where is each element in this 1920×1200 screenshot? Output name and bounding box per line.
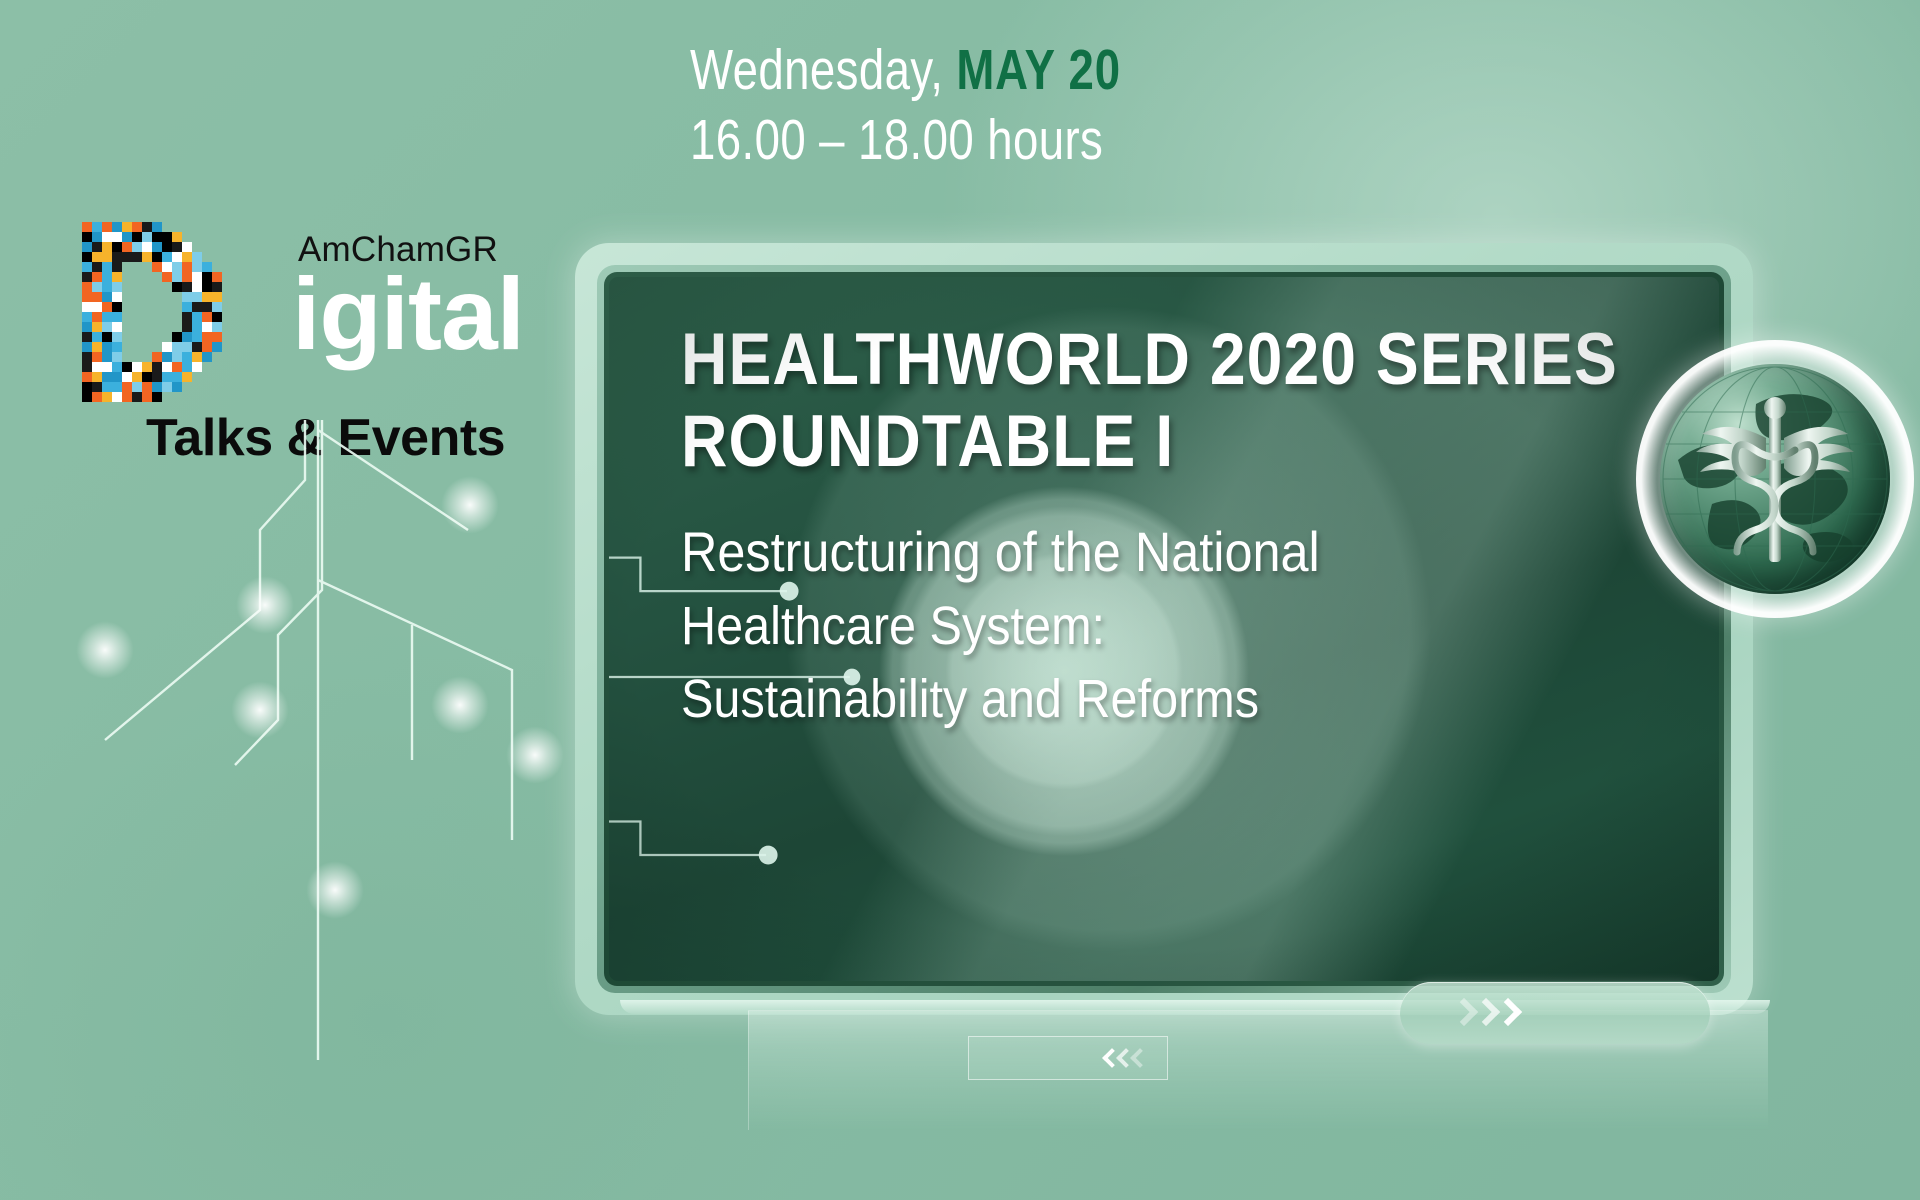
logo-tagline: Talks & Events bbox=[146, 408, 505, 468]
mosaic-pixel bbox=[82, 332, 92, 342]
mosaic-pixel bbox=[112, 392, 122, 402]
mosaic-pixel bbox=[82, 292, 92, 302]
mosaic-pixel bbox=[182, 342, 192, 352]
mosaic-pixel bbox=[152, 222, 162, 232]
circuit-node-glow bbox=[431, 676, 489, 734]
mosaic-pixel bbox=[192, 362, 202, 372]
screen-subtitle-line2: Healthcare System: bbox=[681, 593, 1579, 661]
mosaic-pixel bbox=[182, 352, 192, 362]
next-button[interactable] bbox=[1400, 982, 1710, 1044]
mosaic-pixel bbox=[202, 352, 212, 362]
mosaic-pixel bbox=[102, 352, 112, 362]
mosaic-pixel bbox=[152, 362, 162, 372]
mosaic-pixel bbox=[112, 262, 122, 272]
mosaic-pixel bbox=[202, 332, 212, 342]
mosaic-pixel bbox=[172, 352, 182, 362]
mosaic-pixel bbox=[92, 232, 102, 242]
mosaic-pixel bbox=[122, 392, 132, 402]
mosaic-pixel bbox=[122, 372, 132, 382]
mosaic-pixel bbox=[152, 352, 162, 362]
mosaic-pixel bbox=[162, 362, 172, 372]
mosaic-pixel bbox=[122, 252, 132, 262]
mosaic-pixel bbox=[102, 272, 112, 282]
mosaic-pixel bbox=[92, 362, 102, 372]
mosaic-pixel bbox=[152, 242, 162, 252]
mosaic-pixel bbox=[192, 342, 202, 352]
mosaic-pixel bbox=[162, 262, 172, 272]
mosaic-pixel bbox=[82, 282, 92, 292]
mosaic-pixel bbox=[172, 372, 182, 382]
mosaic-pixel bbox=[192, 312, 202, 322]
mosaic-pixel bbox=[92, 332, 102, 342]
mosaic-pixel bbox=[182, 302, 192, 312]
mosaic-pixel bbox=[212, 292, 222, 302]
mosaic-pixel bbox=[192, 252, 202, 262]
mosaic-pixel bbox=[192, 322, 202, 332]
mosaic-pixel bbox=[82, 262, 92, 272]
mosaic-pixel bbox=[172, 262, 182, 272]
mosaic-pixel bbox=[92, 392, 102, 402]
mosaic-pixel bbox=[192, 262, 202, 272]
mosaic-pixel bbox=[172, 362, 182, 372]
mosaic-pixel bbox=[132, 222, 142, 232]
logo-wordmark: igital bbox=[292, 266, 524, 363]
mosaic-pixel bbox=[122, 242, 132, 252]
mosaic-pixel bbox=[112, 382, 122, 392]
mosaic-pixel bbox=[182, 252, 192, 262]
mosaic-pixel bbox=[102, 232, 112, 242]
mosaic-pixel bbox=[102, 382, 112, 392]
circuit-node-glow bbox=[76, 621, 134, 679]
screen-subtitle-line3: Sustainability and Reforms bbox=[681, 666, 1579, 734]
mosaic-pixel bbox=[182, 322, 192, 332]
chevron-left-icon bbox=[1117, 1047, 1129, 1069]
mosaic-pixel bbox=[162, 352, 172, 362]
mosaic-pixel bbox=[212, 282, 222, 292]
mosaic-pixel bbox=[152, 392, 162, 402]
mosaic-pixel bbox=[82, 252, 92, 262]
mosaic-pixel bbox=[172, 232, 182, 242]
event-time-range: 16.00 – 18.00 hours bbox=[690, 110, 1121, 172]
mosaic-pixel bbox=[112, 282, 122, 292]
mosaic-pixel bbox=[212, 322, 222, 332]
mosaic-pixel bbox=[132, 362, 142, 372]
mosaic-pixel bbox=[202, 262, 212, 272]
mosaic-pixel bbox=[212, 312, 222, 322]
mosaic-pixel bbox=[162, 382, 172, 392]
mosaic-pixel bbox=[82, 312, 92, 322]
mosaic-pixel bbox=[202, 342, 212, 352]
mosaic-pixel bbox=[182, 272, 192, 282]
mosaic-pixel bbox=[112, 302, 122, 312]
mosaic-pixel bbox=[112, 332, 122, 342]
mosaic-pixel bbox=[212, 332, 222, 342]
mosaic-pixel bbox=[92, 312, 102, 322]
mosaic-pixel bbox=[82, 242, 92, 252]
mosaic-pixel bbox=[182, 312, 192, 322]
mosaic-pixel bbox=[182, 332, 192, 342]
mosaic-pixel bbox=[122, 222, 132, 232]
mosaic-pixel bbox=[202, 292, 212, 302]
mosaic-pixel bbox=[82, 222, 92, 232]
mosaic-pixel bbox=[152, 252, 162, 262]
mosaic-pixel bbox=[82, 392, 92, 402]
poster-canvas: Wednesday, MAY 20 16.00 – 18.00 hours Am… bbox=[0, 0, 1920, 1200]
mosaic-pixel bbox=[142, 362, 152, 372]
mosaic-pixel bbox=[112, 312, 122, 322]
mosaic-pixel bbox=[102, 332, 112, 342]
mosaic-pixel bbox=[192, 332, 202, 342]
mosaic-pixel bbox=[152, 382, 162, 392]
mosaic-pixel bbox=[112, 372, 122, 382]
mosaic-pixel bbox=[172, 282, 182, 292]
mosaic-pixel bbox=[102, 392, 112, 402]
circuit-node-glow bbox=[506, 726, 564, 784]
monitor-frame: HEALTHWORLD 2020 SERIES ROUNDTABLE I Res… bbox=[575, 243, 1753, 1015]
mosaic-pixel bbox=[142, 242, 152, 252]
mosaic-pixel bbox=[112, 342, 122, 352]
mosaic-pixel bbox=[192, 272, 202, 282]
mosaic-pixel bbox=[92, 242, 102, 252]
mosaic-pixel bbox=[102, 302, 112, 312]
globe-sphere bbox=[1660, 364, 1890, 594]
chevron-right-icon bbox=[1474, 998, 1491, 1028]
mosaic-pixel bbox=[132, 242, 142, 252]
mosaic-pixel bbox=[82, 352, 92, 362]
event-date-block: Wednesday, MAY 20 16.00 – 18.00 hours bbox=[690, 40, 1229, 171]
mosaic-pixel bbox=[92, 352, 102, 362]
mosaic-pixel bbox=[192, 282, 202, 292]
mosaic-pixel bbox=[92, 262, 102, 272]
chevron-right-icon bbox=[1452, 998, 1469, 1028]
mosaic-pixel bbox=[182, 242, 192, 252]
mosaic-pixel bbox=[182, 372, 192, 382]
chevron-right-icon bbox=[1496, 998, 1513, 1028]
mosaic-pixel bbox=[132, 382, 142, 392]
mosaic-pixel bbox=[112, 232, 122, 242]
mosaic-pixel bbox=[182, 292, 192, 302]
mosaic-pixel bbox=[152, 372, 162, 382]
mosaic-pixel bbox=[112, 252, 122, 262]
mosaic-pixel bbox=[172, 382, 182, 392]
mosaic-pixel bbox=[212, 272, 222, 282]
mosaic-pixel bbox=[102, 372, 112, 382]
mosaic-pixel bbox=[132, 232, 142, 242]
mosaic-pixel bbox=[162, 242, 172, 252]
mosaic-pixel bbox=[102, 342, 112, 352]
mosaic-pixel bbox=[92, 322, 102, 332]
mosaic-pixel bbox=[122, 232, 132, 242]
monitor-bezel-inner: HEALTHWORLD 2020 SERIES ROUNDTABLE I Res… bbox=[604, 272, 1724, 986]
mosaic-pixel bbox=[112, 292, 122, 302]
mosaic-pixel bbox=[82, 232, 92, 242]
mosaic-pixel bbox=[102, 282, 112, 292]
mosaic-pixel bbox=[112, 362, 122, 372]
mosaic-pixel bbox=[82, 372, 92, 382]
mosaic-pixel bbox=[132, 392, 142, 402]
mosaic-pixel bbox=[132, 372, 142, 382]
circuit-tree-decoration bbox=[60, 420, 620, 1060]
mosaic-pixel bbox=[142, 392, 152, 402]
mosaic-pixel bbox=[142, 382, 152, 392]
screen-subtitle-line1: Restructuring of the National bbox=[681, 517, 1579, 587]
event-weekday: Wednesday, bbox=[690, 38, 943, 102]
mosaic-pixel bbox=[162, 342, 172, 352]
mosaic-pixel bbox=[162, 272, 172, 282]
chevron-left-icon bbox=[1103, 1047, 1115, 1069]
mosaic-pixel bbox=[162, 252, 172, 262]
mosaic-pixel bbox=[172, 332, 182, 342]
mosaic-pixel bbox=[92, 252, 102, 262]
mosaic-pixel bbox=[202, 282, 212, 292]
mosaic-pixel bbox=[152, 232, 162, 242]
caduceus-globe-icon bbox=[1636, 340, 1914, 618]
mosaic-pixel bbox=[112, 272, 122, 282]
mosaic-pixel bbox=[92, 342, 102, 352]
mosaic-pixel bbox=[92, 372, 102, 382]
mosaic-pixel bbox=[102, 362, 112, 372]
mosaic-pixel bbox=[192, 292, 202, 302]
monitor-screen: HEALTHWORLD 2020 SERIES ROUNDTABLE I Res… bbox=[609, 277, 1719, 981]
chevron-left-icon bbox=[1131, 1047, 1143, 1069]
previous-button[interactable] bbox=[968, 1036, 1168, 1080]
monitor-bezel-outer: HEALTHWORLD 2020 SERIES ROUNDTABLE I Res… bbox=[597, 265, 1731, 993]
circuit-node-glow bbox=[236, 576, 294, 634]
amcham-digital-logo: AmChamGR igital Talks & Events bbox=[70, 222, 540, 492]
circuit-node-glow bbox=[231, 681, 289, 739]
mosaic-pixel bbox=[112, 322, 122, 332]
event-day-line: Wednesday, MAY 20 bbox=[690, 40, 1121, 102]
event-date: MAY 20 bbox=[956, 38, 1121, 102]
mosaic-pixel bbox=[122, 382, 132, 392]
mosaic-pixel bbox=[102, 252, 112, 262]
mosaic-pixel bbox=[162, 232, 172, 242]
mosaic-pixel bbox=[142, 222, 152, 232]
mosaic-pixel bbox=[112, 222, 122, 232]
mosaic-pixel bbox=[172, 242, 182, 252]
mosaic-pixel bbox=[172, 272, 182, 282]
mosaic-pixel bbox=[112, 352, 122, 362]
mosaic-pixel bbox=[182, 262, 192, 272]
mosaic-pixel bbox=[102, 242, 112, 252]
mosaic-pixel bbox=[82, 322, 92, 332]
screen-title-line1: HEALTHWORLD 2020 SERIES bbox=[681, 319, 1559, 401]
mosaic-pixel bbox=[182, 282, 192, 292]
mosaic-pixel bbox=[202, 272, 212, 282]
mosaic-pixel bbox=[92, 222, 102, 232]
mosaic-pixel bbox=[102, 262, 112, 272]
mosaic-pixel bbox=[132, 252, 142, 262]
globe-continents-icon bbox=[1660, 364, 1890, 594]
mosaic-pixel bbox=[192, 352, 202, 362]
mosaic-pixel bbox=[182, 362, 192, 372]
mosaic-d-icon bbox=[72, 222, 222, 407]
screen-title-line2: ROUNDTABLE I bbox=[681, 401, 1559, 483]
mosaic-pixel bbox=[102, 222, 112, 232]
mosaic-pixel bbox=[92, 282, 102, 292]
circuit-node-glow bbox=[306, 861, 364, 919]
mosaic-pixel bbox=[102, 322, 112, 332]
mosaic-pixel bbox=[92, 302, 102, 312]
mosaic-pixel bbox=[162, 372, 172, 382]
mosaic-pixel bbox=[142, 232, 152, 242]
mosaic-pixel bbox=[202, 302, 212, 312]
mosaic-pixel bbox=[142, 372, 152, 382]
mosaic-pixel bbox=[102, 312, 112, 322]
mosaic-pixel bbox=[202, 312, 212, 322]
mosaic-pixel bbox=[122, 362, 132, 372]
mosaic-pixel bbox=[212, 342, 222, 352]
mosaic-pixel bbox=[172, 342, 182, 352]
mosaic-pixel bbox=[142, 252, 152, 262]
screen-text-block: HEALTHWORLD 2020 SERIES ROUNDTABLE I Res… bbox=[681, 319, 1679, 734]
mosaic-pixel bbox=[202, 322, 212, 332]
mosaic-pixel bbox=[92, 382, 102, 392]
mosaic-pixel bbox=[82, 382, 92, 392]
mosaic-pixel bbox=[152, 262, 162, 272]
mosaic-pixel bbox=[82, 272, 92, 282]
mosaic-pixel bbox=[212, 302, 222, 312]
mosaic-pixel bbox=[112, 242, 122, 252]
mosaic-pixel bbox=[92, 272, 102, 282]
mosaic-pixel bbox=[82, 362, 92, 372]
mosaic-pixel bbox=[82, 302, 92, 312]
mosaic-pixel bbox=[92, 292, 102, 302]
mosaic-pixel bbox=[102, 292, 112, 302]
mosaic-pixel bbox=[192, 302, 202, 312]
mosaic-pixel bbox=[82, 342, 92, 352]
mosaic-pixel bbox=[172, 252, 182, 262]
